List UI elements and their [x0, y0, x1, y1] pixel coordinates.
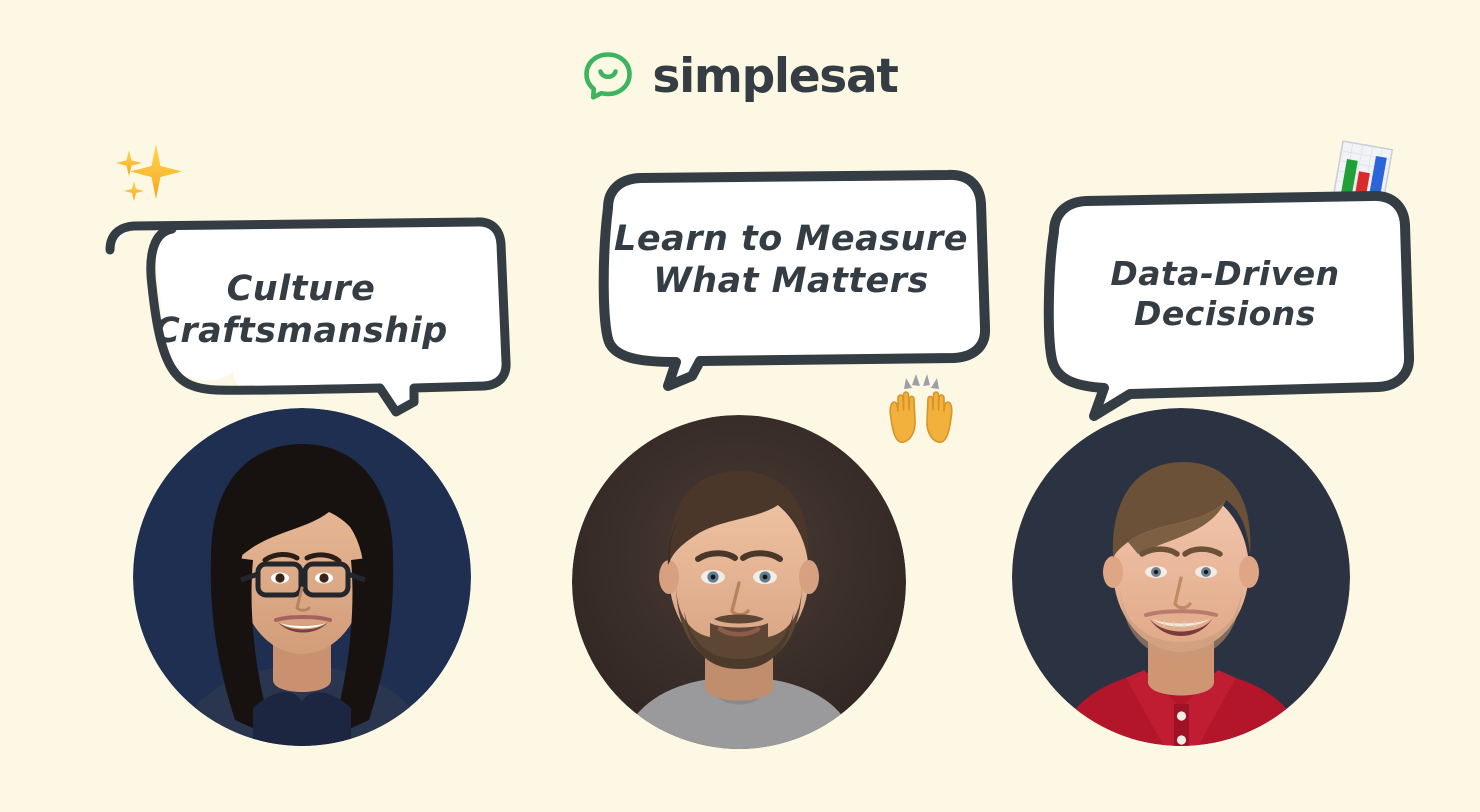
poster-canvas: simplesat: [0, 0, 1480, 812]
avatar-speaker-3: [1012, 408, 1350, 746]
speech-bubble-2[interactable]: Learn to Measure What Matters: [596, 170, 992, 392]
avatar-speaker-1: [133, 408, 471, 746]
speech-bubble-1[interactable]: Culture Craftsmanship: [96, 216, 512, 416]
brand-logo[interactable]: simplesat: [0, 50, 1480, 102]
speech-bubble-smile-icon: [582, 50, 634, 102]
brand-wordmark: simplesat: [652, 53, 897, 100]
speech-bubble-3[interactable]: Data-Driven Decisions: [1042, 188, 1416, 424]
sparkles-icon: [112, 136, 188, 208]
avatar-speaker-2: [572, 415, 906, 749]
